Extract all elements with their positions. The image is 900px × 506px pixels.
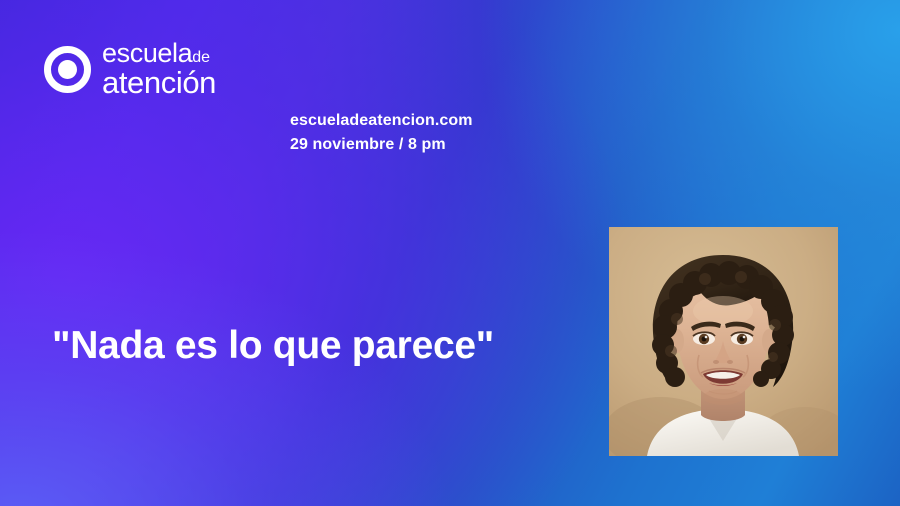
portrait-illustration — [609, 227, 838, 456]
speaker-photo — [609, 227, 838, 456]
brand-name-line-1: escuelade — [102, 41, 216, 67]
brand-wordmark: escuelade atención — [102, 41, 216, 97]
brand-name-suffix: de — [192, 49, 210, 66]
brand-name-main: escuela — [102, 38, 192, 68]
brand-logo[interactable]: escuelade atención — [44, 41, 900, 97]
ring-circle-icon — [44, 46, 91, 93]
promo-slide: escuelade atención escueladeatencion.com… — [0, 0, 900, 506]
website-url[interactable]: escueladeatencion.com — [290, 109, 900, 133]
event-meta: escueladeatencion.com 29 noviembre / 8 p… — [290, 109, 900, 157]
ring-inner-dot — [58, 60, 77, 79]
brand-name-line-2: atención — [102, 68, 216, 97]
event-date-time: 29 noviembre / 8 pm — [290, 133, 900, 157]
